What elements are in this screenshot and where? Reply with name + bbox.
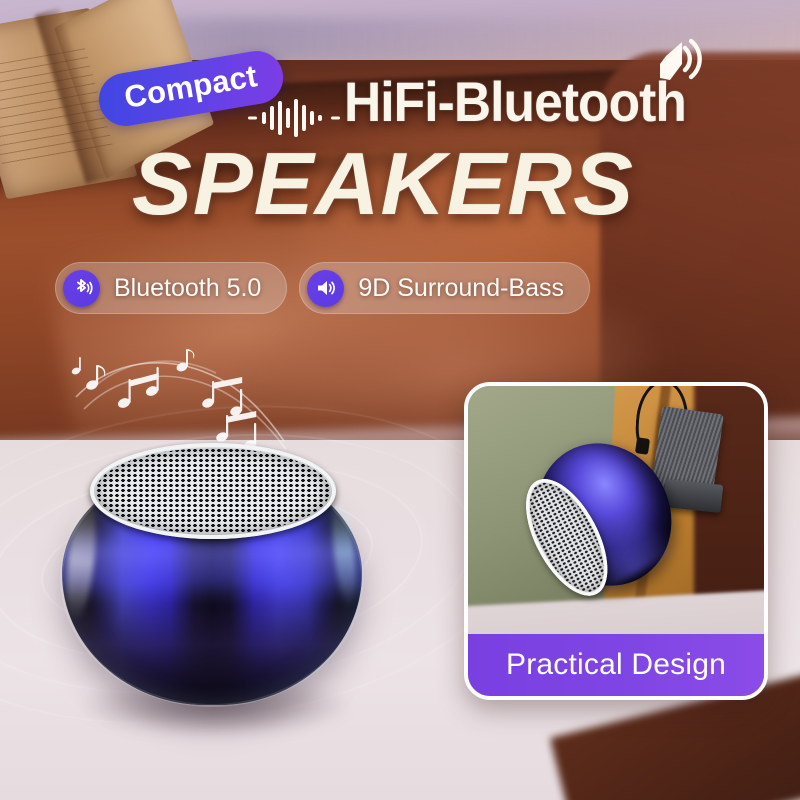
speaker-mesh [96, 448, 330, 534]
inset-caption-bar: Practical Design [468, 634, 764, 696]
speaker-grille [90, 443, 336, 539]
feature-pill-label: 9D Surround-Bass [358, 274, 564, 303]
product-speaker-main [62, 443, 362, 705]
feature-pill-surround[interactable]: 9D Surround-Bass [299, 262, 590, 314]
feature-pill-list: Bluetooth 5.0 9D Surround-Bass [55, 262, 590, 314]
advertisement-banner: Compact HiFi-Bluetooth SPEAKERS [0, 0, 800, 800]
speaker-sound-icon [652, 34, 708, 91]
headline-line-1: HiFi-Bluetooth [344, 74, 686, 130]
headline-line-2: SPEAKERS [132, 140, 634, 228]
volume-icon [307, 270, 344, 307]
bluetooth-icon [63, 270, 100, 307]
feature-pill-bluetooth[interactable]: Bluetooth 5.0 [55, 262, 287, 314]
feature-pill-label: Bluetooth 5.0 [114, 274, 261, 303]
inset-caption-label: Practical Design [506, 648, 726, 682]
inset-card-practical-design[interactable]: Practical Design [464, 382, 768, 700]
